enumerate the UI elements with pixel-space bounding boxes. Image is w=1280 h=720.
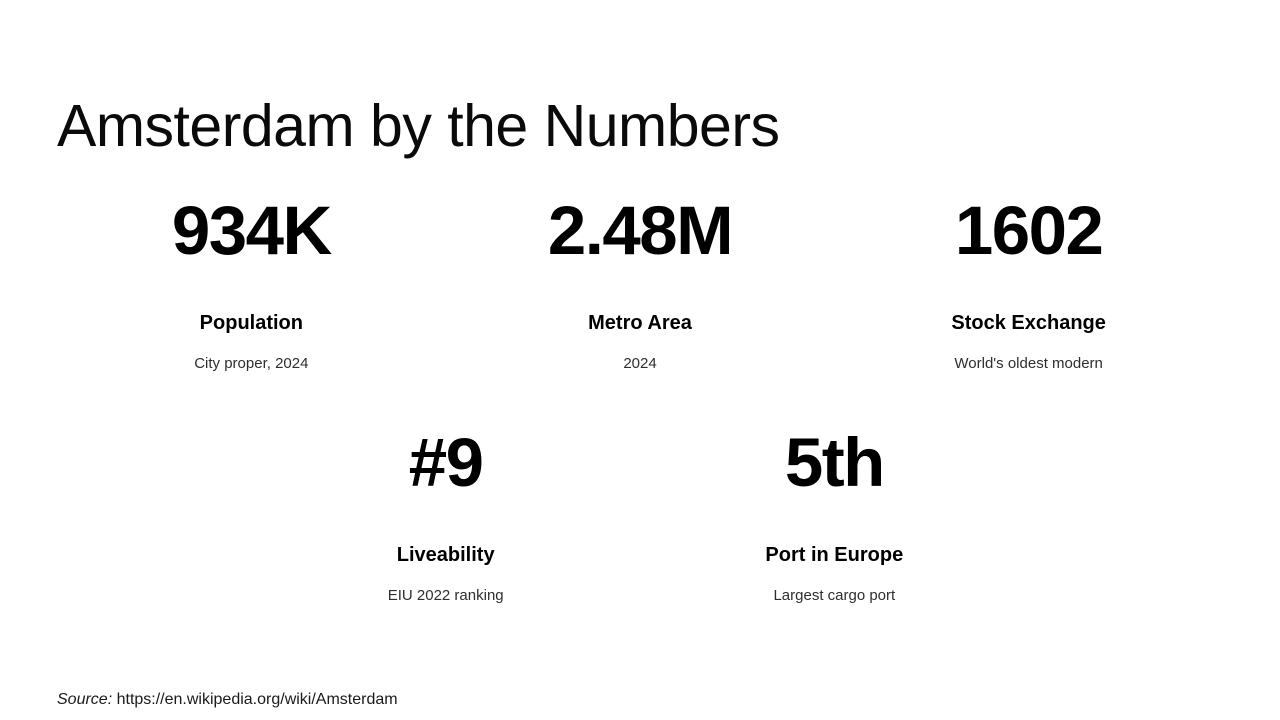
slide-canvas: Amsterdam by the Numbers 934K Population… (0, 0, 1280, 720)
stats-grid: 934K Population City proper, 2024 2.48M … (57, 186, 1223, 650)
stat-value: 2.48M (456, 186, 825, 265)
stat-value: 1602 (844, 186, 1213, 265)
stat-label: Metro Area (456, 265, 825, 335)
source-label: Source: (57, 691, 112, 708)
stat-value: 934K (67, 186, 436, 265)
source-note: Source: https://en.wikipedia.org/wiki/Am… (57, 691, 398, 709)
stat-sublabel: EIU 2022 ranking (261, 567, 630, 605)
stat-label: Stock Exchange (844, 265, 1213, 335)
stat-card-population: 934K Population City proper, 2024 (57, 186, 446, 418)
source-url: https://en.wikipedia.org/wiki/Amsterdam (117, 691, 398, 708)
stat-card-port-in-europe: 5th Port in Europe Largest cargo port (640, 418, 1029, 650)
stat-value: #9 (261, 418, 630, 497)
stat-sublabel: 2024 (456, 335, 825, 373)
stat-card-stock-exchange: 1602 Stock Exchange World's oldest moder… (834, 186, 1223, 418)
stat-value: 5th (650, 418, 1019, 497)
stat-card-metro-area: 2.48M Metro Area 2024 (446, 186, 835, 418)
stat-sublabel: Largest cargo port (650, 567, 1019, 605)
page-title: Amsterdam by the Numbers (57, 96, 779, 158)
stat-label: Liveability (261, 497, 630, 567)
stat-card-liveability: #9 Liveability EIU 2022 ranking (251, 418, 640, 650)
stat-label: Population (67, 265, 436, 335)
stat-sublabel: City proper, 2024 (67, 335, 436, 373)
stat-label: Port in Europe (650, 497, 1019, 567)
stat-sublabel: World's oldest modern (844, 335, 1213, 373)
